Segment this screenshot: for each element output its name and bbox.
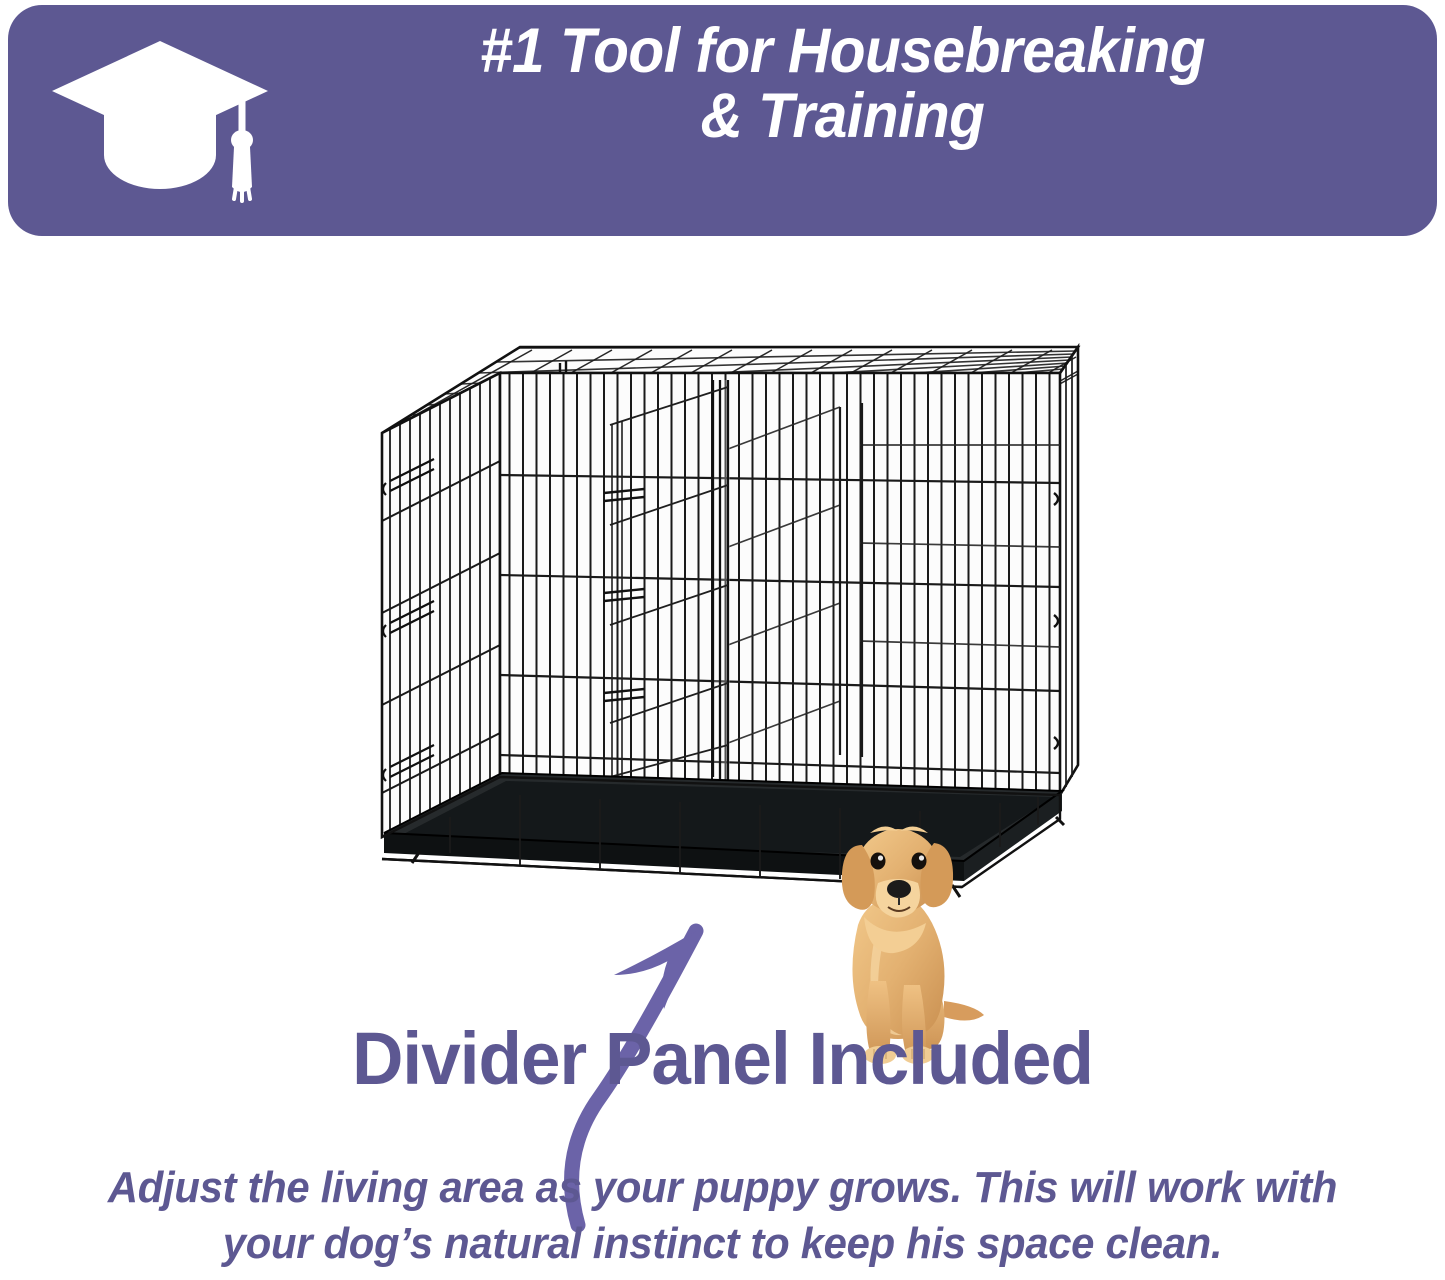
- banner-title: #1 Tool for Housebreaking & Training: [327, 19, 1358, 149]
- footer-heading: Divider Panel Included: [29, 1022, 1416, 1096]
- product-image-area: [0, 250, 1445, 1010]
- dog-crate-illustration: [360, 325, 1090, 925]
- graduation-cap-icon: [46, 27, 274, 215]
- footer-body-text: Adjust the living area as your puppy gro…: [93, 1160, 1352, 1273]
- header-banner: #1 Tool for Housebreaking & Training: [8, 5, 1437, 236]
